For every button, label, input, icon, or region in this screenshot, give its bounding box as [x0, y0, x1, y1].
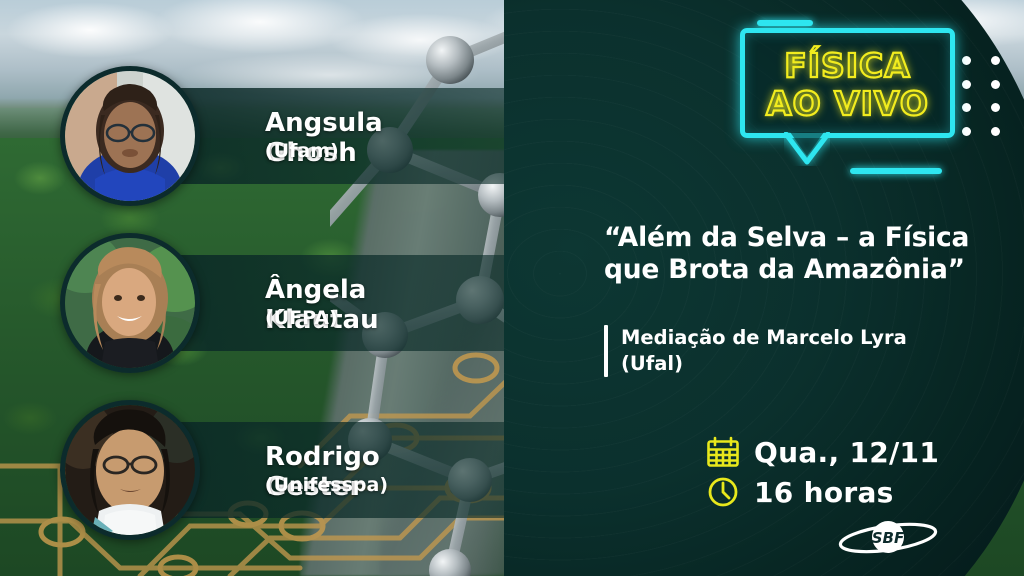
event-poster: Angsula Ghosh (Ufam)	[0, 0, 1024, 576]
sbf-logo: SBF	[836, 514, 941, 562]
mediator-block: Mediação de Marcelo Lyra (Ufal)	[604, 325, 1004, 377]
avatar	[60, 233, 200, 373]
event-date: Qua., 12/11	[754, 436, 939, 469]
event-time: 16 horas	[754, 476, 894, 509]
mediator-accent-bar	[604, 325, 608, 377]
mediator-name: Mediação de Marcelo Lyra	[621, 325, 907, 351]
date-row: Qua., 12/11	[706, 432, 939, 472]
sbf-logo-text: SBF	[872, 529, 905, 547]
fisica-ao-vivo-logo: FÍSICA AO VIVO	[740, 28, 955, 168]
speaker-org: (Unifesspa)	[265, 473, 388, 497]
brand-line-1: FÍSICA	[745, 49, 950, 83]
speech-bubble-tail	[784, 132, 830, 166]
calendar-icon	[706, 436, 740, 468]
accent-bar-top	[757, 20, 813, 26]
avatar	[60, 66, 200, 206]
schedule-block: Qua., 12/11 16 horas	[706, 432, 939, 512]
speaker-org: (UFPA)	[265, 306, 338, 330]
time-row: 16 horas	[706, 472, 939, 512]
speech-bubble-outline: FÍSICA AO VIVO	[740, 28, 955, 138]
speaker-org: (Ufam)	[265, 139, 339, 163]
mediator-org: (Ufal)	[621, 351, 907, 377]
avatar	[60, 400, 200, 540]
clock-icon	[706, 476, 740, 508]
page-title: “Além da Selva – a Física que Brota da A…	[604, 222, 1004, 286]
dot-grid-decoration	[962, 56, 1006, 140]
brand-line-2: AO VIVO	[745, 87, 950, 121]
accent-bar-bottom	[850, 168, 942, 174]
